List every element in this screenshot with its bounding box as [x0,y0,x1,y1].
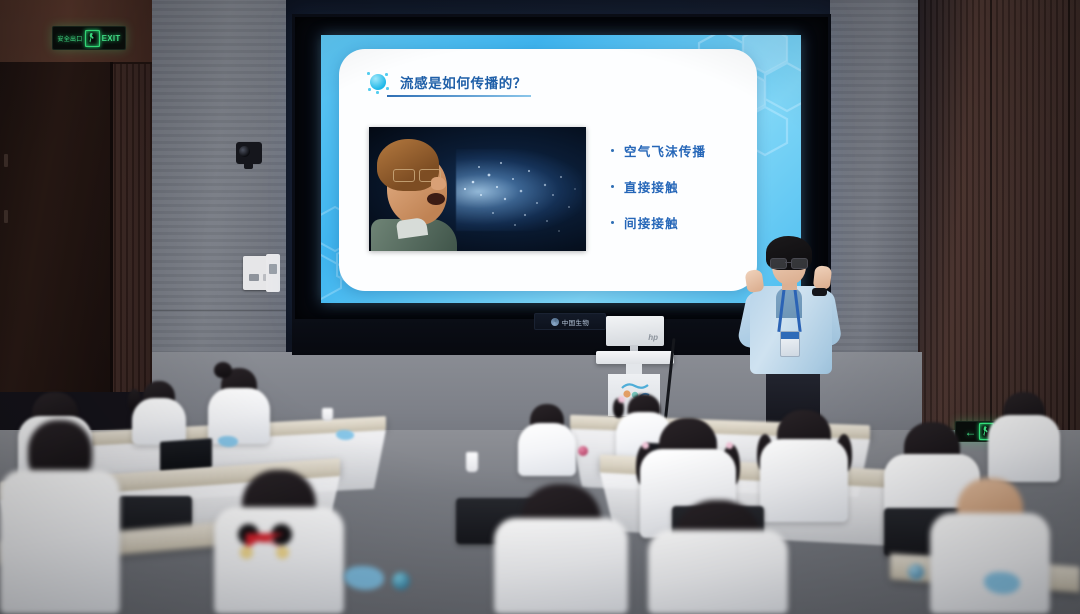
student-bun [214,362,232,378]
badge-header [781,332,799,339]
slide-photo-sneezing [369,127,586,251]
presentation-slide: 流感是如何传播的？ [321,35,801,303]
grey-wall-column-left [152,0,292,410]
student-lab-coat [648,530,788,614]
virus-icon [367,71,389,93]
blue-glove [336,430,354,440]
paper-cup [466,452,478,472]
id-badge [780,331,800,357]
list-item: 空气飞沫传播 [611,141,706,160]
blue-glove [984,572,1020,594]
right-wood-wall [918,0,1080,430]
bullet-dot-icon [611,221,614,224]
list-item [988,392,1060,482]
lectern-desktop [596,351,674,364]
slide-card: 流感是如何传播的？ [339,49,757,291]
student-lab-coat [0,470,120,614]
brand-label: 中国生物 [562,317,590,327]
grey-wall-texture [152,0,292,410]
lectern-monitor: hp [606,316,664,346]
exit-sign-top-left: 安全出口 EXIT [52,26,126,50]
list-item [132,381,186,445]
exit-sign-chinese-label: 安全出口 [57,34,82,43]
paper-cup [322,408,333,421]
bullet-label: 直接接触 [624,177,679,196]
list-item: 间接接触 [611,213,706,232]
china-biotec-logo-icon [551,318,559,326]
student-lab-coat [208,388,270,444]
panel-button-icon [249,274,259,281]
student-lab-coat [518,423,576,476]
list-item [648,500,788,614]
door-hinge-icon [4,154,8,167]
switch-icon [269,264,277,274]
student-lab-coat [132,398,186,445]
bullet-dot-icon [611,185,614,188]
list-item: 直接接触 [611,177,706,196]
glasses-icon [770,258,808,267]
student-lab-coat [988,415,1060,482]
smart-watch-icon [812,288,827,296]
bullet-label: 间接接触 [624,213,679,232]
bullet-label: 空气飞沫传播 [624,141,706,160]
wall-camera-icon [236,142,262,164]
hair-tie-icon [642,442,649,449]
list-item [930,478,1050,614]
marble-ball [578,446,588,456]
marble-ball [908,564,924,580]
list-item [0,420,120,614]
presenter-left-hand [745,269,765,293]
bullet-dot-icon [611,149,614,152]
hair-tie-icon [726,442,733,449]
blue-glove [218,436,238,447]
presenter-right-hand [813,265,832,290]
door-hinge-icon [4,210,8,223]
wall-seam [1068,0,1070,430]
student-lab-coat [930,513,1050,614]
presenter [736,236,848,426]
student-lab-coat [494,518,628,614]
title-underline [387,95,531,97]
minnie-mouse-bow-icon [238,524,292,558]
screenshot-root: 安全出口 EXIT ← [0,0,1080,614]
running-man-icon [85,30,100,47]
slide-bullet-list: 空气飞沫传播 直接接触 间接接触 [611,141,706,232]
blue-glove [344,566,384,590]
list-item [208,368,270,444]
yellow-bead-icon [240,546,253,559]
slide-title: 流感是如何传播的？ [400,72,527,92]
wood-grain-texture [918,0,1080,430]
hp-logo-icon: hp [648,333,658,342]
wall-seam [990,0,992,430]
yellow-bead-icon [276,546,289,559]
list-item [518,404,576,476]
figure-hair [377,139,439,191]
wall-seam [152,310,292,311]
marble-ball [392,572,410,590]
sneezing-man-figure [371,133,477,251]
virus-core [370,74,386,90]
list-item [494,484,628,614]
door-left[interactable] [0,62,113,392]
exit-sign-english-label: EXIT [102,34,121,43]
wall-switch-panel[interactable] [266,254,280,292]
hair-tie-icon [618,396,625,403]
slide-title-row: 流感是如何传播的？ [367,71,527,93]
figure-nose [431,177,446,190]
left-wood-wall [0,0,152,392]
figure-mouth [427,193,445,205]
